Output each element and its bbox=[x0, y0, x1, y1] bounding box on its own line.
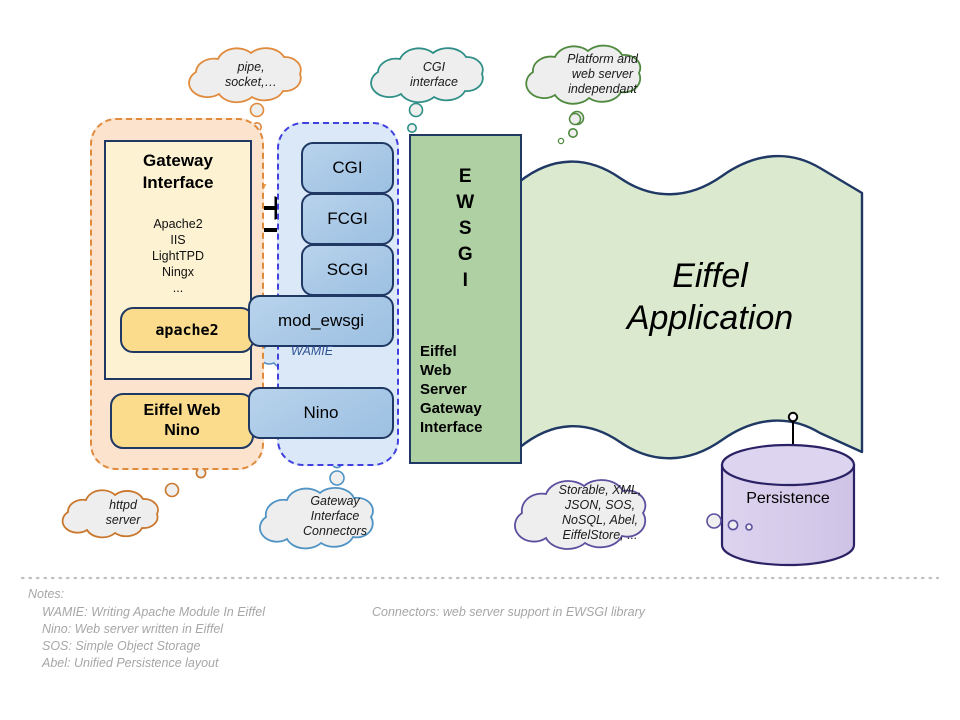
connector-box-cgi[interactable]: CGI bbox=[301, 142, 394, 194]
notes-left-3: SOS: Simple Object Storage bbox=[28, 638, 928, 655]
ewsgi-panel[interactable]: E W S G I Eiffel Web Server Gateway Inte… bbox=[409, 134, 522, 464]
eiffel-application-label: Eiffel Application bbox=[560, 255, 860, 339]
ewsgi-letter-w: W bbox=[411, 190, 520, 216]
diagram-canvas: Gateway Interface Apache2 IIS LightTPD N… bbox=[0, 0, 960, 720]
ewsgi-letter-g: G bbox=[411, 242, 520, 268]
notes-left-1: WAMIE: Writing Apache Module In Eiffel bbox=[28, 604, 372, 621]
cloud-label-persistence-formats: Storable, XML, JSON, SOS, NoSQL, Abel, E… bbox=[538, 483, 662, 543]
cloud-connectors-line2: Interface bbox=[283, 509, 387, 524]
eiffel-web-nino-line1: Eiffel Web bbox=[143, 401, 220, 421]
gateway-server-lighttpd: LightTPD bbox=[106, 248, 250, 264]
ewsgi-word-gateway: Gateway bbox=[420, 399, 520, 418]
ewsgi-word-web: Web bbox=[420, 361, 520, 380]
gateway-title-line1: Gateway bbox=[106, 150, 250, 172]
eiffel-web-nino-box[interactable]: Eiffel Web Nino bbox=[110, 393, 254, 449]
notes-left-4: Abel: Unified Persistence layout bbox=[28, 655, 928, 672]
eiffel-web-nino-line2: Nino bbox=[143, 421, 220, 441]
nino-label: Nino bbox=[304, 403, 339, 423]
gateway-title-line2: Interface bbox=[106, 172, 250, 194]
gateway-server-ellipsis: ... bbox=[106, 280, 250, 296]
ewsgi-word-eiffel: Eiffel bbox=[420, 342, 520, 361]
cloud-pipe-line2: socket,… bbox=[196, 75, 306, 90]
ewsgi-letter-i: I bbox=[411, 268, 520, 294]
notes-block: Notes: WAMIE: Writing Apache Module In E… bbox=[28, 586, 928, 672]
connector-box-nino[interactable]: Nino bbox=[248, 387, 394, 439]
eiffel-application-line2: Application bbox=[560, 297, 860, 339]
cloud-label-httpd-server: httpd server bbox=[78, 498, 168, 528]
cloud-tail-cgi bbox=[408, 104, 423, 133]
cloud-storable-line2: JSON, SOS, bbox=[538, 498, 662, 513]
cloud-label-wamie: WAMIE bbox=[276, 344, 348, 359]
persistence-label: Persistence bbox=[718, 490, 858, 508]
cloud-connectors-line3: Connectors bbox=[283, 524, 387, 539]
cloud-cgi-line2: interface bbox=[380, 75, 488, 90]
cloud-connectors-line1: Gateway bbox=[283, 494, 387, 509]
cloud-platform-line3: independant bbox=[545, 82, 660, 97]
notes-row: WAMIE: Writing Apache Module In Eiffel C… bbox=[28, 604, 928, 621]
ewsgi-panel-handles bbox=[558, 114, 580, 144]
cloud-label-platform-independant: Platform and web server independant bbox=[545, 52, 660, 97]
gateway-server-iis: IIS bbox=[106, 232, 250, 248]
mod-ewsgi-label: mod_ewsgi bbox=[278, 311, 364, 331]
cloud-label-gateway-connectors: Gateway Interface Connectors bbox=[283, 494, 387, 539]
cloud-storable-line1: Storable, XML, bbox=[538, 483, 662, 498]
connector-box-mod-ewsgi[interactable]: mod_ewsgi bbox=[248, 295, 394, 347]
ewsgi-word-interface: Interface bbox=[420, 418, 520, 437]
cloud-platform-line1: Platform and bbox=[545, 52, 660, 67]
cgi-label: CGI bbox=[332, 158, 362, 178]
apache2-box[interactable]: apache2 bbox=[120, 307, 254, 353]
cloud-label-pipe-socket: pipe, socket,… bbox=[196, 60, 306, 90]
cloud-cgi-line1: CGI bbox=[380, 60, 488, 75]
ewsgi-word-server: Server bbox=[420, 380, 520, 399]
connector-box-fcgi[interactable]: FCGI bbox=[301, 193, 394, 245]
cloud-httpd-line2: server bbox=[78, 513, 168, 528]
cloud-storable-line4: EiffelStore, ... bbox=[538, 528, 662, 543]
connector-box-scgi[interactable]: SCGI bbox=[301, 244, 394, 296]
apache2-label: apache2 bbox=[155, 320, 218, 340]
notes-left-2: Nino: Web server written in Eiffel bbox=[28, 621, 928, 638]
gateway-server-ningx: Ningx bbox=[106, 264, 250, 280]
eiffel-application-line1: Eiffel bbox=[560, 255, 860, 297]
scgi-label: SCGI bbox=[327, 260, 369, 280]
ewsgi-letter-s: S bbox=[411, 216, 520, 242]
cloud-platform-line2: web server bbox=[545, 67, 660, 82]
cloud-storable-line3: NoSQL, Abel, bbox=[538, 513, 662, 528]
cloud-pipe-line1: pipe, bbox=[196, 60, 306, 75]
ewsgi-letter-e: E bbox=[411, 164, 520, 190]
notes-heading: Notes: bbox=[28, 586, 928, 603]
cloud-label-cgi-interface: CGI interface bbox=[380, 60, 488, 90]
fcgi-label: FCGI bbox=[327, 209, 368, 229]
notes-right-1: Connectors: web server support in EWSGI … bbox=[372, 604, 792, 621]
gateway-server-apache2: Apache2 bbox=[106, 216, 250, 232]
cloud-httpd-line1: httpd bbox=[78, 498, 168, 513]
